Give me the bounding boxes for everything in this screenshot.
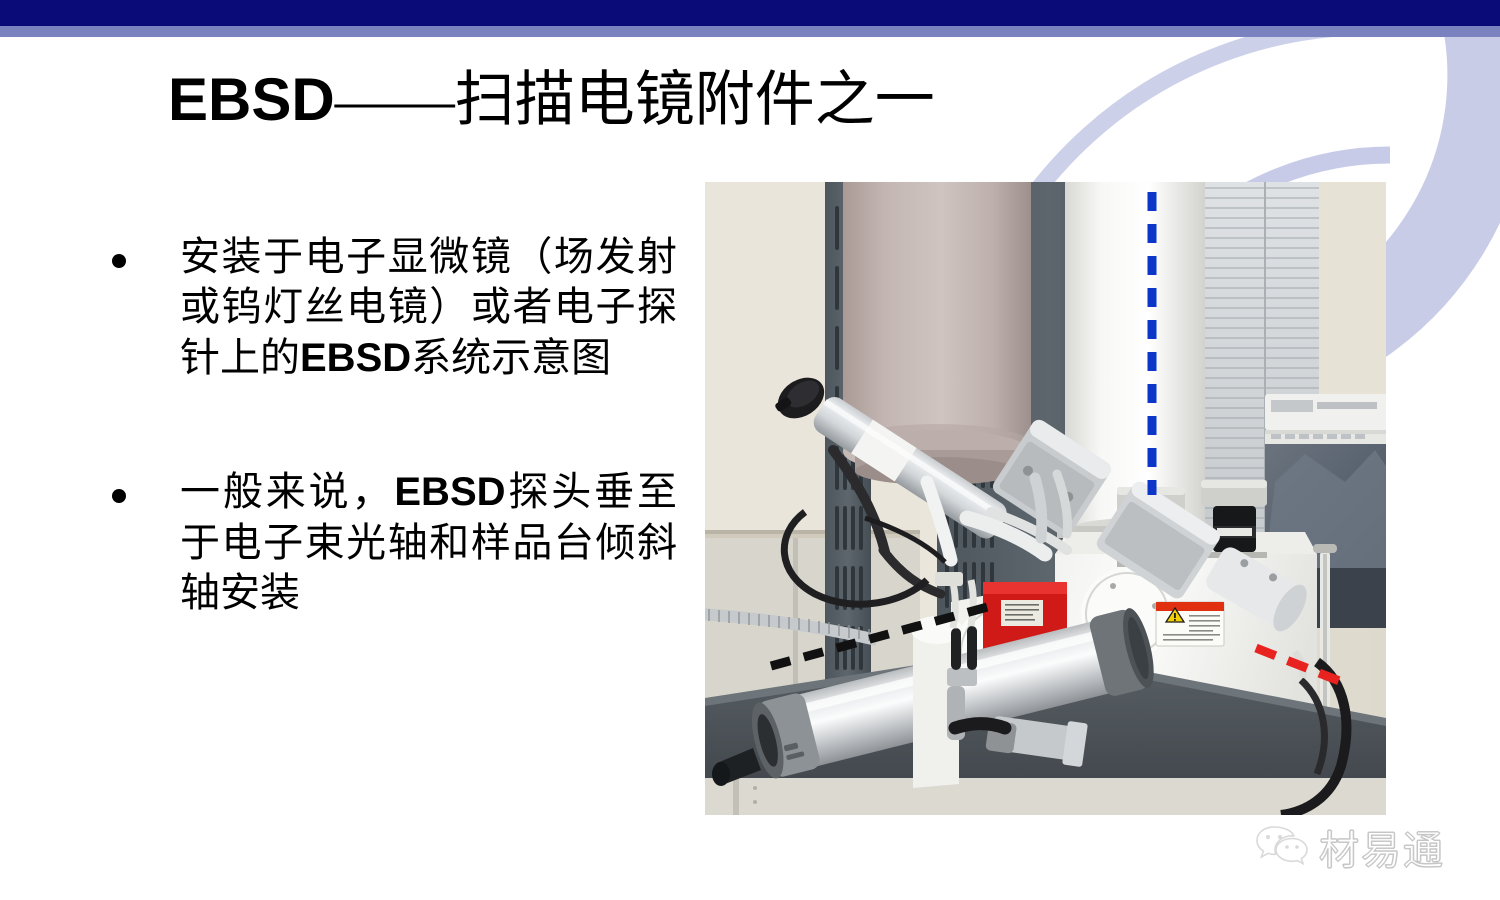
list-item: 一般来说，EBSD探头垂至于电子束光轴和样品台倾斜轴安装 bbox=[112, 467, 677, 618]
watermark-text: 材易通 bbox=[1319, 818, 1445, 876]
bullet-2-latin: EBSD bbox=[394, 470, 505, 514]
bullet-1-part-b: 系统示意图 bbox=[411, 335, 611, 380]
bullet-dot-icon bbox=[112, 254, 126, 268]
slide-root: EBSD——扫描电镜附件之一 安装于电子显微镜（场发射或钨灯丝电镜）或者电子探针… bbox=[0, 0, 1500, 900]
bullet-1-latin: EBSD bbox=[300, 336, 411, 380]
bullet-list: 安装于电子显微镜（场发射或钨灯丝电镜）或者电子探针上的EBSD系统示意图 一般来… bbox=[112, 232, 677, 618]
bullet-1-text: 安装于电子显微镜（场发射或钨灯丝电镜）或者电子探针上的EBSD系统示意图 bbox=[180, 232, 677, 383]
high-voltage-warning-sticker bbox=[1156, 602, 1224, 646]
bullet-2-part-a: 一般来说， bbox=[180, 469, 394, 514]
bullet-dot-icon bbox=[112, 489, 126, 503]
title-latin: EBSD bbox=[168, 66, 335, 133]
page-title: EBSD——扫描电镜附件之一 bbox=[168, 68, 935, 132]
bullet-2-text: 一般来说，EBSD探头垂至于电子束光轴和样品台倾斜轴安装 bbox=[180, 467, 677, 618]
top-navy-band bbox=[0, 0, 1500, 26]
title-chinese: 扫描电镜附件之一 bbox=[455, 67, 935, 133]
wechat-icon bbox=[1255, 823, 1309, 872]
title-dash: —— bbox=[335, 67, 455, 133]
sem-with-ebsd-detector-photo bbox=[705, 182, 1386, 815]
list-item: 安装于电子显微镜（场发射或钨灯丝电镜）或者电子探针上的EBSD系统示意图 bbox=[112, 232, 677, 383]
top-periwinkle-band bbox=[0, 26, 1500, 37]
watermark: 材易通 bbox=[1255, 818, 1445, 876]
